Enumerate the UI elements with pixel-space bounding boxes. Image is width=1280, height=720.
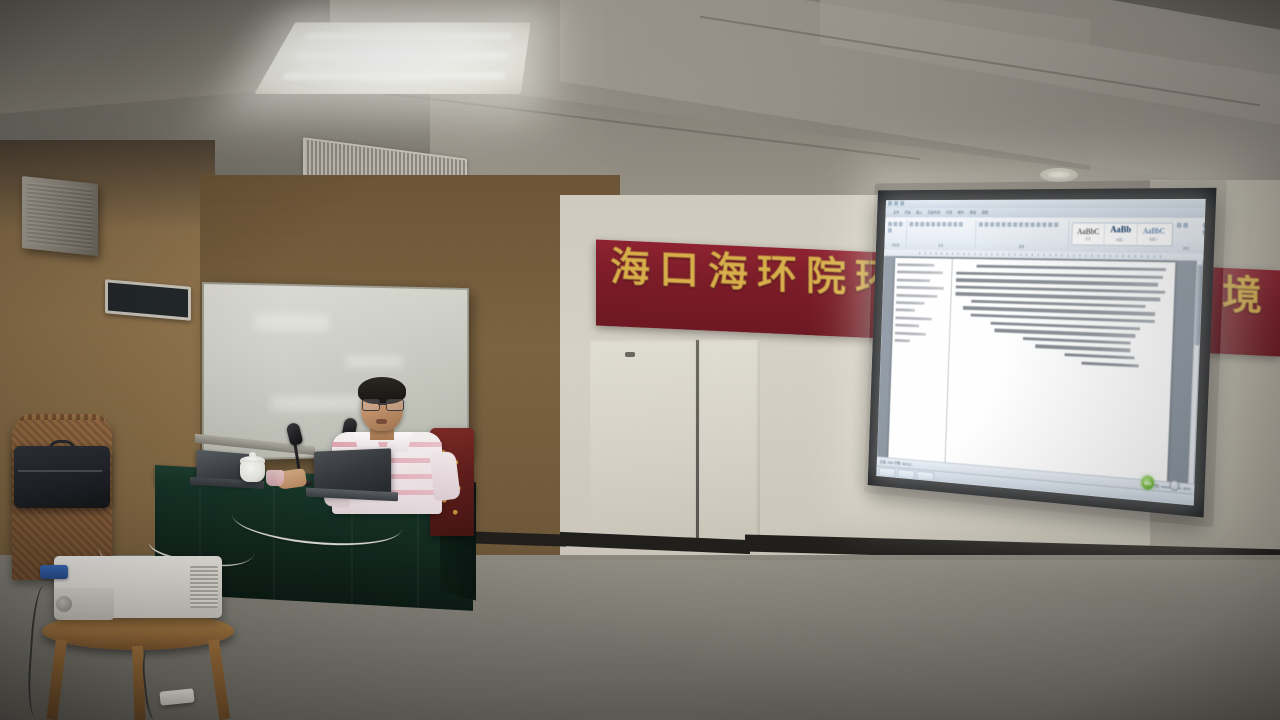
ribbon-group-label: 样式 (1174, 246, 1198, 251)
banner-text: 海口海环院环 (610, 247, 904, 300)
photo-scene: 海口海环院环 境 文件 (0, 0, 1280, 720)
text-highlight-icon[interactable] (953, 222, 957, 227)
align-right-icon[interactable] (1030, 222, 1034, 227)
italic-icon[interactable] (926, 222, 930, 227)
decrease-indent-icon[interactable] (996, 222, 1000, 227)
save-icon[interactable] (888, 201, 892, 206)
wall-door-panel[interactable] (700, 340, 760, 545)
subscript-icon[interactable] (942, 222, 946, 227)
multilevel-list-icon[interactable] (990, 222, 994, 227)
quick-access-toolbar[interactable] (888, 201, 904, 206)
document-table-right-column (945, 259, 1175, 484)
change-styles-icon[interactable] (1177, 223, 1182, 228)
format-painter-icon[interactable] (888, 228, 892, 233)
find-icon[interactable] (1203, 223, 1206, 228)
tab-file[interactable]: 文件 (893, 210, 899, 215)
floor-light-sheen (430, 560, 1280, 720)
laptop-bag (14, 446, 110, 508)
paste-icon[interactable] (888, 222, 892, 227)
ribbon-group-label: 段落 (976, 243, 1068, 249)
align-center-icon[interactable] (1025, 222, 1029, 227)
tab-view[interactable]: 视图 (982, 210, 989, 216)
font-size-icon[interactable] (915, 222, 919, 227)
superscript-icon[interactable] (948, 222, 952, 227)
taskbar-item-start[interactable] (879, 467, 896, 477)
sort-icon[interactable] (1007, 222, 1011, 227)
taskbar-item-word[interactable] (917, 470, 934, 481)
recessed-downlight-icon (1040, 168, 1078, 182)
banner-text-tail: 境 (1222, 275, 1271, 317)
style-name: 标题 2 (1149, 236, 1157, 241)
font-color-icon[interactable] (959, 222, 963, 227)
underline-icon[interactable] (931, 222, 935, 227)
cut-icon[interactable] (893, 222, 897, 227)
ribbon-group-paragraph[interactable]: 段落 (976, 220, 1069, 249)
numbering-icon[interactable] (984, 222, 988, 227)
tab-page-layout[interactable]: 页面布局 (928, 210, 941, 215)
style-preview-text: AaBbC (1077, 227, 1099, 235)
bold-icon[interactable] (920, 222, 924, 227)
tab-references[interactable]: 引用 (946, 210, 953, 216)
projector-vent-grille (190, 566, 218, 608)
projector-lens-icon (56, 596, 72, 612)
strikethrough-icon[interactable] (937, 222, 941, 227)
ribbon[interactable]: 剪贴板 (884, 217, 1205, 255)
tab-mailings[interactable]: 邮件 (958, 210, 965, 216)
ribbon-tab-strip[interactable]: 文件 开始 插入 页面布局 引用 邮件 审阅 视图 (885, 208, 1205, 218)
styles-pane-icon[interactable] (1183, 223, 1188, 228)
style-chip-heading1[interactable]: AaBb 标题 1 (1104, 223, 1138, 245)
borders-icon[interactable] (1054, 222, 1058, 227)
projection-screen-surface: 文件 开始 插入 页面布局 引用 邮件 审阅 视图 (876, 199, 1205, 506)
redo-icon[interactable] (900, 201, 904, 206)
document-table-left-column (888, 258, 952, 464)
align-left-icon[interactable] (1019, 222, 1023, 227)
style-name: 正文 (1085, 236, 1091, 241)
ribbon-group-label: 剪贴板 (886, 242, 906, 247)
tab-home[interactable]: 开始 (904, 210, 910, 215)
document-page[interactable] (888, 258, 1175, 483)
wall-mounted-speaker (22, 176, 98, 256)
ribbon-group-font[interactable]: 字体 (907, 220, 976, 248)
door-knob-icon[interactable] (625, 352, 635, 357)
projection-screen-frame: 文件 开始 插入 页面布局 引用 邮件 审阅 视图 (868, 188, 1217, 518)
ribbon-group-editing[interactable]: 编辑 (1200, 221, 1206, 251)
ribbon-group-styles[interactable]: 样式 (1174, 221, 1199, 251)
copy-icon[interactable] (899, 222, 903, 227)
pink-cup (266, 470, 284, 486)
style-chip-normal[interactable]: AaBbC 正文 (1072, 223, 1105, 244)
word-application: 文件 开始 插入 页面布局 引用 邮件 审阅 视图 (876, 199, 1205, 506)
font-name-icon[interactable] (909, 222, 913, 227)
taskbar-item-explorer[interactable] (897, 469, 914, 480)
fluorescent-ceiling-light (254, 22, 530, 93)
presenter-mouth (376, 419, 387, 424)
style-name: 标题 1 (1116, 237, 1124, 242)
style-preview-text: AaBbC (1143, 228, 1165, 236)
zoom-level-label: 85% (1183, 486, 1191, 492)
tab-review[interactable]: 审阅 (970, 210, 977, 216)
line-spacing-icon[interactable] (1042, 222, 1046, 227)
vga-connector-icon (40, 565, 68, 579)
word-title-bar (886, 199, 1206, 208)
style-gallery[interactable]: AaBbC 正文 AaBb 标题 1 AaBbC 标题 2 (1071, 222, 1173, 246)
document-canvas[interactable] (877, 256, 1203, 484)
justify-icon[interactable] (1036, 222, 1040, 227)
lidded-teacup (240, 462, 265, 482)
ribbon-group-clipboard[interactable]: 剪贴板 (886, 220, 908, 247)
style-preview-text: AaBb (1110, 227, 1131, 236)
select-icon[interactable] (1202, 230, 1205, 235)
style-chip-heading2[interactable]: AaBbC 标题 2 (1137, 224, 1170, 246)
bullets-icon[interactable] (979, 222, 983, 227)
wall-door-panel[interactable] (590, 340, 698, 545)
tab-insert[interactable]: 插入 (916, 210, 922, 215)
show-marks-icon[interactable] (1013, 222, 1017, 227)
shading-icon[interactable] (1048, 222, 1052, 227)
door-seam (696, 340, 699, 545)
ribbon-group-label: 字体 (907, 243, 975, 248)
undo-icon[interactable] (894, 201, 898, 206)
eyeglasses-icon (362, 399, 402, 409)
increase-indent-icon[interactable] (1002, 222, 1006, 227)
ribbon-group-label: 编辑 (1200, 246, 1206, 251)
